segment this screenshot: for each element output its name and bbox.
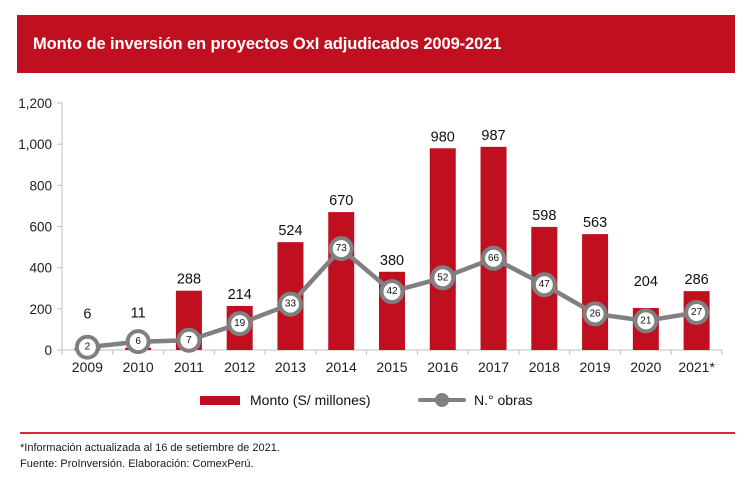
y-axis-tick-label: 600 [29,220,52,235]
y-axis-tick-label: 1,000 [18,137,52,152]
header-band: Monto de inversión en proyectos OxI adju… [17,15,735,73]
bar-value-label: 204 [634,274,658,290]
bar-value-label: 980 [431,129,455,145]
footer-source: Fuente: ProInversión. Elaboración: Comex… [20,456,735,472]
line-marker-label: 6 [135,336,141,347]
line-marker-label: 19 [234,318,246,329]
footer-note: *Información actualizada al 16 de setiem… [20,440,735,456]
footer-notes: *Información actualizada al 16 de setiem… [20,440,735,472]
line-marker-label: 47 [539,279,551,290]
bar-value-label: 6 [83,307,91,323]
line-marker-label: 2 [85,342,91,353]
x-axis-tick-label: 2020 [630,359,661,375]
chart-container: 02004006008001,0001,20020092010201120122… [0,78,754,423]
x-axis-tick-label: 2018 [529,359,560,375]
footer-divider [20,432,735,434]
x-axis-tick-label: 2009 [72,359,103,375]
line-marker-label: 26 [590,308,602,319]
x-axis-tick-label: 2021* [678,359,715,375]
line-marker-label: 33 [285,299,297,310]
legend-marker-obras [435,393,449,407]
x-axis-tick-label: 2019 [579,359,610,375]
chart-legend: Monto (S/ millones)N.° obras [200,392,533,408]
bar-value-label: 598 [532,208,556,224]
x-axis-tick-label: 2015 [376,359,407,375]
bar-value-label: 288 [177,272,201,288]
line-marker-label: 21 [640,315,652,326]
line-marker-label: 52 [437,272,449,283]
bar[interactable] [328,212,354,350]
line-marker-label: 73 [336,243,348,254]
x-axis-tick-label: 2017 [478,359,509,375]
page-title: Monto de inversión en proyectos OxI adju… [33,35,501,54]
y-axis-tick-label: 800 [29,178,52,193]
y-axis-tick-label: 1,200 [18,96,52,111]
bar-series [74,147,709,350]
y-axis-tick-label: 400 [29,261,52,276]
line-marker-label: 42 [386,286,398,297]
bar-value-label: 524 [278,223,302,239]
bar-value-label: 380 [380,253,404,269]
line-marker-label: 7 [186,335,192,346]
legend-label-monto: Monto (S/ millones) [250,392,371,408]
x-axis-tick-label: 2011 [174,359,204,375]
x-axis-tick-label: 2012 [224,359,255,375]
bar-value-label: 987 [481,128,505,144]
bar-value-label: 670 [329,193,353,209]
bar-value-label: 563 [583,215,607,231]
investment-chart: 02004006008001,0001,20020092010201120122… [0,78,754,423]
x-axis-tick-label: 2010 [123,359,154,375]
bar[interactable] [582,234,608,350]
x-axis-tick-label: 2014 [326,359,357,375]
legend-label-obras: N.° obras [474,392,533,408]
line-marker-label: 27 [691,307,703,318]
chart-page: Monto de inversión en proyectos OxI adju… [0,0,754,483]
x-axis-tick-label: 2013 [275,359,306,375]
line-marker-label: 66 [488,253,500,264]
bar[interactable] [430,148,456,350]
bar-value-label: 11 [131,306,146,322]
y-axis-tick-label: 200 [29,302,52,317]
y-axis-tick-label: 0 [44,343,52,358]
bar-value-label: 286 [685,272,709,288]
legend-swatch-monto [200,396,240,405]
x-axis-tick-label: 2016 [427,359,458,375]
bar-value-label: 214 [228,287,252,303]
